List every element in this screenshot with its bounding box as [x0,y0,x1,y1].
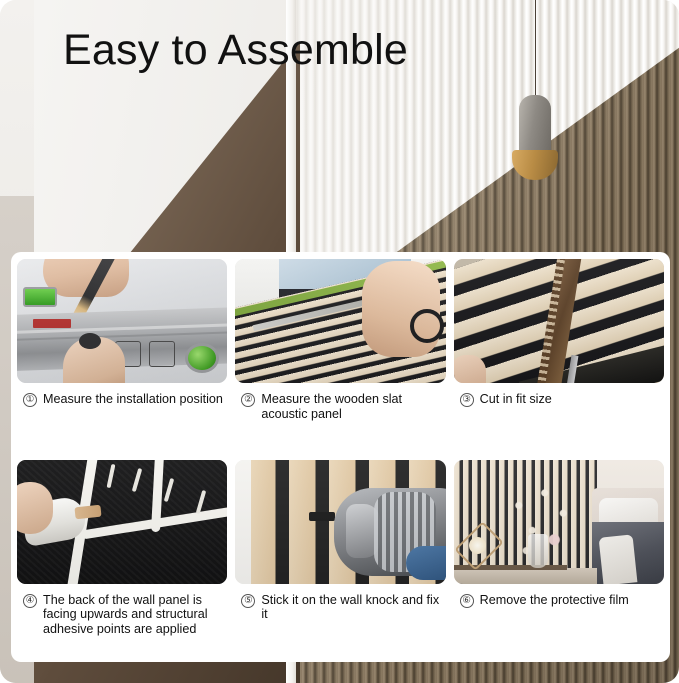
step-text-2: Measure the wooden slat acoustic panel [261,392,443,421]
step-cell-6: ⑥ Remove the protective film [454,460,664,657]
hand-icon [454,355,486,383]
level-bubble-vial-icon [23,287,57,307]
saw-cutting-panel-photo [454,259,664,383]
spirit-level-pencil-photo [17,259,227,383]
product-infographic: Easy to Assemble [0,0,679,683]
step-cell-5: ⑤ Stick it on the wall knock and fix it [235,460,445,657]
step-caption-1: ① Measure the installation position [17,383,227,407]
steps-card: ① Measure the installation position [11,252,670,662]
step-number-1: ① [23,393,37,407]
step-number-4: ④ [23,594,37,608]
step-cell-1: ① Measure the installation position [17,259,227,456]
tape-measure-icon [410,309,444,343]
drill-fixing-panel-photo [235,460,445,584]
finished-bedroom-wall-photo [454,460,664,584]
step-cell-2: ② Measure the wooden slat acoustic panel [235,259,445,456]
glass-vase-icon [528,534,548,568]
hand-icon [17,482,53,534]
step-caption-5: ⑤ Stick it on the wall knock and fix it [235,584,445,622]
step-text-4: The back of the wall panel is facing upw… [43,593,225,637]
step-number-2: ② [241,393,255,407]
step-text-5: Stick it on the wall knock and fix it [261,593,443,622]
step-caption-3: ③ Cut in fit size [454,383,664,407]
screw-icon [309,512,335,521]
step-text-6: Remove the protective film [480,593,662,608]
hero-title: Easy to Assemble [63,22,408,78]
steps-grid: ① Measure the installation position [11,252,670,662]
light-bulb-icon [469,537,486,554]
pendant-lamp-cord-icon [535,0,536,98]
step-number-3: ③ [460,393,474,407]
step-cell-4: ④ The back of the wall panel is facing u… [17,460,227,657]
step-cell-3: ③ Cut in fit size [454,259,664,456]
nozzle-icon [74,504,101,519]
measuring-slat-panel-photo [235,259,445,383]
step-caption-2: ② Measure the wooden slat acoustic panel [235,383,445,421]
step-caption-6: ⑥ Remove the protective film [454,584,664,608]
throw-blanket-icon [598,534,636,584]
step-text-1: Measure the installation position [43,392,225,407]
step-number-5: ⑤ [241,594,255,608]
step-number-6: ⑥ [460,594,474,608]
step-caption-4: ④ The back of the wall panel is facing u… [17,584,227,637]
step-text-3: Cut in fit size [480,392,662,407]
adhesive-on-felt-back-photo [17,460,227,584]
pendant-lamp-body-icon [519,95,551,157]
